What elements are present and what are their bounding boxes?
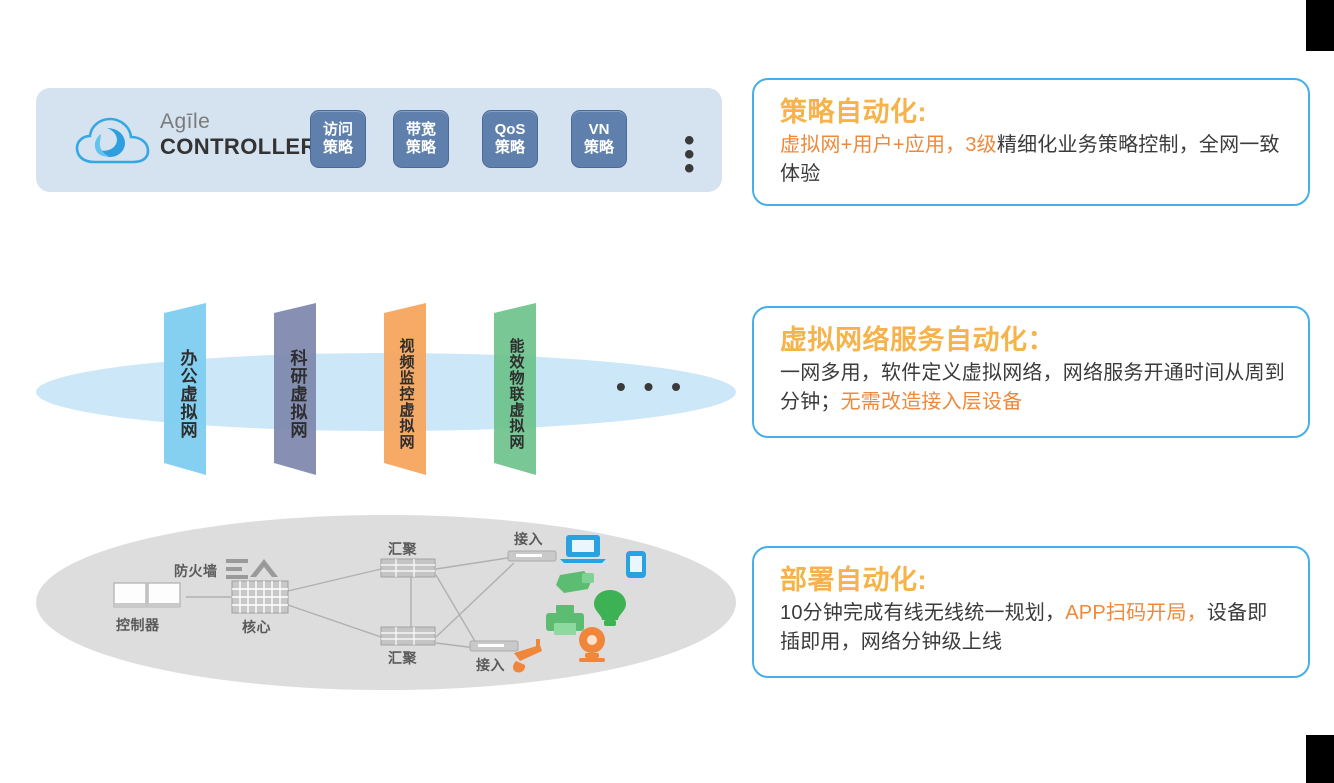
bulb-icon bbox=[594, 590, 626, 626]
virtual-network-service-automation-card: 虚拟网络服务自动化： 一网多用，软件定义虚拟网络，网络服务开通时间从周到分钟；无… bbox=[752, 306, 1310, 438]
vn-label-video-surveillance: 视频监控虚拟网 bbox=[382, 313, 430, 475]
policy-label-line2: 策略 bbox=[406, 139, 436, 157]
switch-icon-bottom bbox=[381, 627, 435, 645]
card-body: 虚拟网+用户+应用，3级精细化业务策略控制，全网一致体验 bbox=[780, 131, 1286, 189]
policy-button-access[interactable]: 访问 策略 bbox=[310, 110, 366, 168]
policy-label-line2: 策略 bbox=[323, 139, 353, 157]
core-switch-icon bbox=[232, 581, 288, 613]
policy-label-line1: QoS bbox=[495, 121, 526, 139]
card-body-highlight: APP扫码开局， bbox=[1065, 602, 1207, 624]
card-body: 10分钟完成有线无线统一规划，APP扫码开局，设备即插即用，网络分钟级上线 bbox=[780, 599, 1286, 657]
policy-label-line1: 访问 bbox=[323, 121, 353, 139]
edge-bar-top bbox=[1306, 0, 1334, 51]
policy-label-line2: 策略 bbox=[584, 139, 614, 157]
laptop-icon bbox=[560, 535, 606, 563]
topology-label-controller: 控制器 bbox=[116, 615, 160, 635]
policy-label-line1: VN bbox=[589, 121, 610, 139]
vn-label-text: 科研虚拟网 bbox=[288, 349, 307, 439]
card-body-highlight: 虚拟网+用户+应用，3级 bbox=[780, 134, 997, 156]
access-switch-icon-bottom bbox=[470, 641, 518, 651]
policy-label-line2: 策略 bbox=[495, 139, 525, 157]
policy-button-bandwidth[interactable]: 带宽 策略 bbox=[393, 110, 449, 168]
projector-icon bbox=[556, 571, 594, 593]
brand-text: Agīle CONTROLLER bbox=[160, 110, 330, 160]
topology-label-agg-top: 汇聚 bbox=[388, 539, 417, 559]
card-body: 一网多用，软件定义虚拟网络，网络服务开通时间从周到分钟；无需改造接入层设备 bbox=[780, 359, 1286, 417]
card-title: 部署自动化: bbox=[780, 564, 1286, 597]
virtual-network-stage: 办公虚拟网 科研虚拟网 视频监控虚拟网 能效物联虚拟网 • • • bbox=[36, 285, 736, 500]
card-body-plain: 10分钟完成有线无线统一规划， bbox=[780, 602, 1065, 624]
policy-button-qos[interactable]: QoS 策略 bbox=[482, 110, 538, 168]
server-pair-icon bbox=[114, 583, 180, 608]
topology-label-core: 核心 bbox=[242, 617, 271, 637]
webcam-icon bbox=[579, 627, 605, 662]
policy-button-vn[interactable]: VN 策略 bbox=[571, 110, 627, 168]
card-title: 策略自动化: bbox=[780, 96, 1286, 129]
slide-root: Agīle CONTROLLER 访问 策略 带宽 策略 QoS 策略 VN 策… bbox=[0, 0, 1334, 783]
tablet-icon bbox=[626, 551, 646, 578]
topology-label-access-top: 接入 bbox=[514, 529, 543, 549]
topology-label-access-bottom: 接入 bbox=[476, 655, 505, 675]
policy-more-dots[interactable]: • • • bbox=[684, 134, 722, 176]
access-switch-icon-top bbox=[508, 551, 556, 561]
edge-bar-bottom bbox=[1306, 735, 1334, 783]
topology-label-firewall: 防火墙 bbox=[174, 561, 218, 581]
vn-label-text: 视频监控虚拟网 bbox=[397, 338, 416, 450]
switch-icon-top bbox=[381, 559, 435, 577]
printer-icon bbox=[546, 605, 584, 635]
vn-label-text: 办公虚拟网 bbox=[178, 349, 197, 439]
topology-links bbox=[36, 515, 736, 690]
agile-controller-bar: Agīle CONTROLLER 访问 策略 带宽 策略 QoS 策略 VN 策… bbox=[36, 88, 722, 192]
vn-label-office: 办公虚拟网 bbox=[166, 313, 208, 475]
deployment-automation-card: 部署自动化: 10分钟完成有线无线统一规划，APP扫码开局，设备即插即用，网络分… bbox=[752, 546, 1310, 678]
policy-label-line1: 带宽 bbox=[406, 121, 436, 139]
firewall-icon bbox=[226, 559, 278, 579]
card-body-highlight: 无需改造接入层设备 bbox=[841, 391, 1023, 413]
vn-more-dots[interactable]: • • • bbox=[616, 380, 686, 394]
vn-label-research: 科研虚拟网 bbox=[276, 313, 318, 475]
agile-controller-logo: Agīle CONTROLLER bbox=[74, 110, 324, 172]
card-title: 虚拟网络服务自动化： bbox=[780, 324, 1286, 357]
brand-agile: Agīle bbox=[160, 110, 330, 134]
network-topology: 控制器 防火墙 核心 汇聚 汇聚 接入 接入 bbox=[36, 515, 736, 690]
policy-automation-card: 策略自动化: 虚拟网+用户+应用，3级精细化业务策略控制，全网一致体验 bbox=[752, 78, 1310, 206]
brand-controller: CONTROLLER bbox=[160, 134, 330, 160]
topology-label-agg-bottom: 汇聚 bbox=[388, 648, 417, 668]
vn-label-text: 能效物联虚拟网 bbox=[507, 338, 526, 450]
cloud-swirl-icon bbox=[74, 116, 152, 168]
vn-label-energy-iot: 能效物联虚拟网 bbox=[492, 313, 540, 475]
